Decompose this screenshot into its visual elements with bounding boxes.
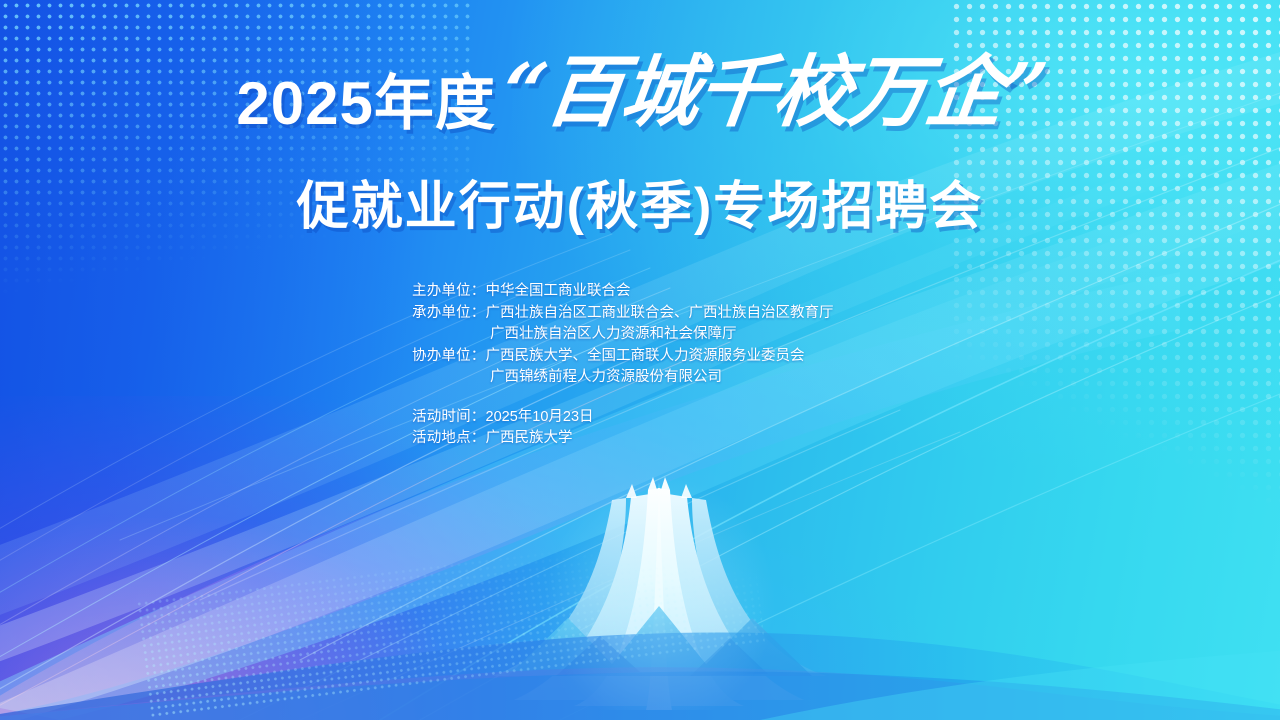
info-organizer-line: 承办单位：广西壮族自治区工商业联合会、广西壮族自治区教育厅: [412, 303, 834, 325]
info-organizer-label: 承办单位：: [412, 305, 486, 321]
info-coorganizer-label: 协办单位：: [412, 348, 486, 364]
info-coorganizer-line-2: 广西锦绣前程人力资源股份有限公司: [412, 367, 834, 389]
info-spacer: [412, 389, 834, 407]
info-coorganizer-value: 广西民族大学、全国工商联人力资源服务业委员会: [486, 348, 805, 364]
info-organizer-value: 广西壮族自治区工商业联合会、广西壮族自治区教育厅: [486, 305, 834, 321]
subtitle: 促就业行动(秋季)专场招聘会: [0, 175, 1280, 240]
info-host-label: 主办单位：: [412, 283, 486, 299]
info-time-value: 2025年10月23日: [486, 409, 594, 425]
info-place-label: 活动地点：: [412, 430, 486, 446]
title-year: 2025年度: [236, 74, 495, 134]
info-coorganizer-line: 协办单位：广西民族大学、全国工商联人力资源服务业委员会: [412, 346, 834, 368]
event-info-block: 主办单位：中华全国工商业联合会 承办单位：广西壮族自治区工商业联合会、广西壮族自…: [412, 281, 834, 450]
info-place-value: 广西民族大学: [486, 430, 573, 446]
title-slogan-calligraphy: “百城千校万企”: [498, 56, 1049, 130]
poster-content: 2025年度 “百城千校万企” 促就业行动(秋季)专场招聘会 主办单位：中华全国…: [0, 0, 1280, 720]
info-time-label: 活动时间：: [412, 409, 486, 425]
info-host-line: 主办单位：中华全国工商业联合会: [412, 281, 834, 303]
info-host-value: 中华全国工商业联合会: [486, 283, 631, 299]
info-time-line: 活动时间：2025年10月23日: [412, 407, 834, 429]
info-place-line: 活动地点：广西民族大学: [412, 428, 834, 450]
info-organizer-line-2: 广西壮族自治区人力资源和社会保障厅: [412, 324, 834, 346]
poster-canvas: 2025年度 “百城千校万企” 促就业行动(秋季)专场招聘会 主办单位：中华全国…: [0, 0, 1280, 720]
main-title: 2025年度 “百城千校万企”: [0, 62, 1280, 136]
